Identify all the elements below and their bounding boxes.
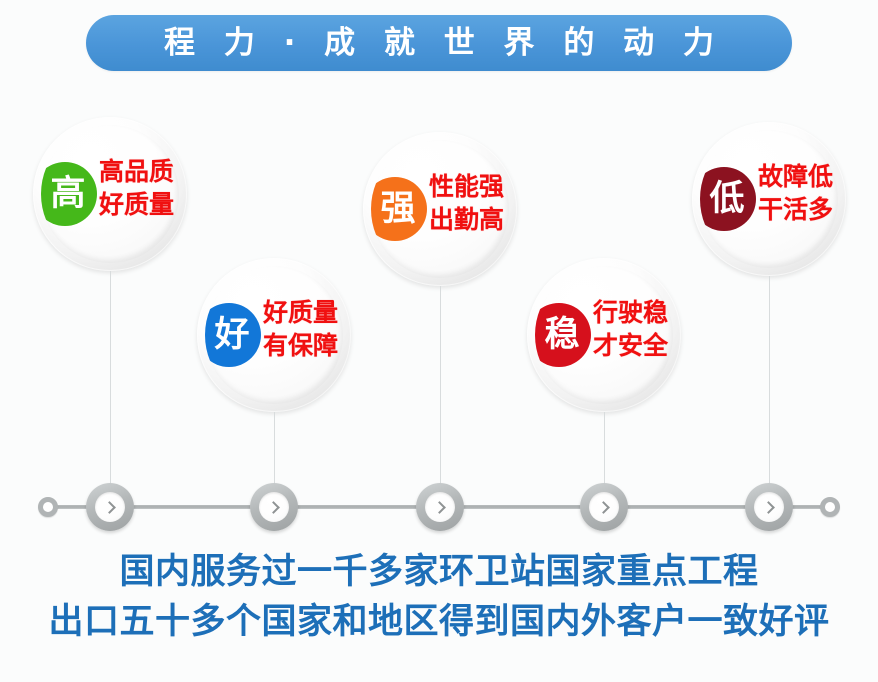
balloon-stem-3 bbox=[440, 286, 441, 487]
feature-badge-4: 稳 bbox=[535, 303, 591, 367]
feature-badge-5: 低 bbox=[700, 167, 756, 231]
feature-badge-1: 高 bbox=[41, 162, 97, 226]
feature-text-4-line2: 才安全 bbox=[593, 329, 673, 362]
timeline bbox=[0, 505, 878, 509]
timeline-node-5[interactable] bbox=[745, 483, 793, 531]
timeline-node-5-core bbox=[754, 492, 784, 522]
feature-text-4: 行驶稳 才安全 bbox=[593, 296, 673, 363]
feature-text-1-line2: 好质量 bbox=[99, 188, 179, 221]
feature-balloon-5-face: 低 故障低 干活多 bbox=[700, 130, 838, 268]
feature-text-1-line1: 高品质 bbox=[99, 155, 179, 188]
balloon-stem-5 bbox=[769, 276, 770, 487]
balloon-stem-1 bbox=[110, 271, 111, 487]
feature-text-3-line1: 性能强 bbox=[429, 170, 509, 203]
feature-text-5-line2: 干活多 bbox=[758, 193, 838, 226]
feature-balloon-2-face: 好 好质量 有保障 bbox=[205, 266, 343, 404]
chevron-right-icon bbox=[103, 501, 116, 514]
feature-text-2: 好质量 有保障 bbox=[263, 296, 343, 363]
chevron-right-icon bbox=[267, 501, 280, 514]
timeline-node-1[interactable] bbox=[86, 483, 134, 531]
feature-badge-4-label: 稳 bbox=[544, 318, 579, 353]
chevron-right-icon bbox=[597, 501, 610, 514]
timeline-cap-end bbox=[820, 497, 840, 517]
feature-text-5-line1: 故障低 bbox=[758, 160, 838, 193]
feature-balloon-1-face: 高 高品质 好质量 bbox=[41, 125, 179, 263]
timeline-cap-start bbox=[38, 497, 58, 517]
header-banner-container: 程 力 · 成 就 世 界 的 动 力 bbox=[0, 14, 878, 72]
timeline-node-4[interactable] bbox=[580, 483, 628, 531]
feature-text-2-line2: 有保障 bbox=[263, 329, 343, 362]
feature-badge-3-label: 强 bbox=[380, 192, 415, 227]
feature-text-3: 性能强 出勤高 bbox=[429, 170, 509, 237]
feature-balloon-3[interactable]: 强 性能强 出勤高 bbox=[363, 132, 517, 286]
feature-balloon-3-face: 强 性能强 出勤高 bbox=[371, 140, 509, 278]
timeline-node-1-core bbox=[95, 492, 125, 522]
feature-badge-1-label: 高 bbox=[50, 177, 85, 212]
balloon-stem-2 bbox=[274, 412, 275, 487]
footer-text: 国内服务过一千多家环卫站国家重点工程 出口五十多个国家和地区得到国内外客户一致好… bbox=[0, 548, 878, 647]
feature-balloon-1[interactable]: 高 高品质 好质量 bbox=[33, 117, 187, 271]
feature-balloon-4-face: 稳 行驶稳 才安全 bbox=[535, 266, 673, 404]
feature-text-2-line1: 好质量 bbox=[263, 296, 343, 329]
footer-line-1: 国内服务过一千多家环卫站国家重点工程 bbox=[0, 548, 878, 598]
feature-balloon-4[interactable]: 稳 行驶稳 才安全 bbox=[527, 258, 681, 412]
timeline-node-2[interactable] bbox=[250, 483, 298, 531]
timeline-node-3[interactable] bbox=[416, 483, 464, 531]
feature-badge-3: 强 bbox=[371, 177, 427, 241]
feature-balloon-2[interactable]: 好 好质量 有保障 bbox=[197, 258, 351, 412]
feature-badge-2: 好 bbox=[205, 303, 261, 367]
feature-text-1: 高品质 好质量 bbox=[99, 155, 179, 222]
feature-badge-5-label: 低 bbox=[709, 182, 744, 217]
timeline-node-4-core bbox=[589, 492, 619, 522]
header-banner: 程 力 · 成 就 世 界 的 动 力 bbox=[86, 15, 792, 71]
feature-text-3-line2: 出勤高 bbox=[429, 203, 509, 236]
timeline-node-2-core bbox=[259, 492, 289, 522]
banner-title: 程 力 · 成 就 世 界 的 动 力 bbox=[155, 28, 723, 59]
feature-text-4-line1: 行驶稳 bbox=[593, 296, 673, 329]
timeline-node-3-core bbox=[425, 492, 455, 522]
feature-text-5: 故障低 干活多 bbox=[758, 160, 838, 227]
balloon-stem-4 bbox=[604, 412, 605, 487]
feature-badge-2-label: 好 bbox=[214, 318, 249, 353]
footer-line-2: 出口五十多个国家和地区得到国内外客户一致好评 bbox=[0, 598, 878, 648]
feature-balloon-5[interactable]: 低 故障低 干活多 bbox=[692, 122, 846, 276]
chevron-right-icon bbox=[762, 501, 775, 514]
chevron-right-icon bbox=[433, 501, 446, 514]
